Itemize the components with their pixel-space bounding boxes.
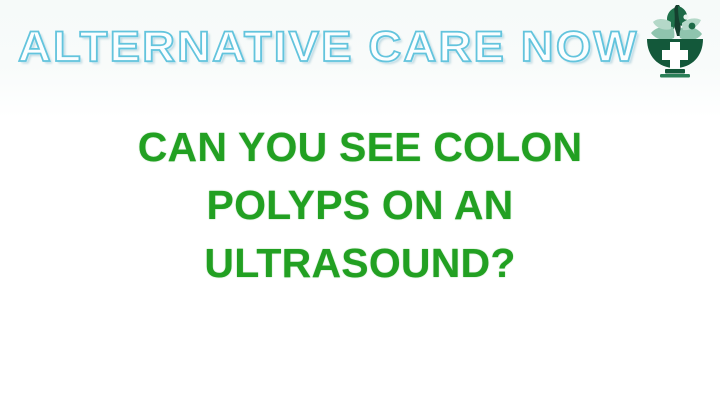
content-empty-area xyxy=(0,300,720,404)
page-title: CAN YOU SEE COLON POLYPS ON AN ULTRASOUN… xyxy=(0,118,720,292)
brand-header: ALTERNATIVE CARE NOW xyxy=(0,0,720,84)
page-canvas: ALTERNATIVE CARE NOW xyxy=(0,0,720,404)
mortar-and-pestle-with-cross-icon xyxy=(643,3,707,81)
title-line-1: CAN YOU SEE COLON xyxy=(0,118,720,176)
brand-logo xyxy=(643,3,707,81)
title-line-3: ULTRASOUND? xyxy=(0,234,720,292)
title-line-2: POLYPS ON AN xyxy=(0,176,720,234)
brand-wordmark: ALTERNATIVE CARE NOW xyxy=(18,20,643,74)
